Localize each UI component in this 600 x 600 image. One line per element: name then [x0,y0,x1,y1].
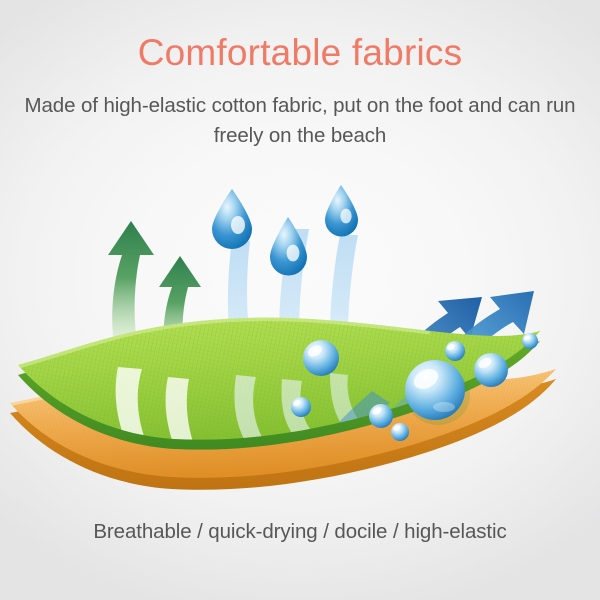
water-bead [303,340,339,376]
feature-caption: Breathable / quick-drying / docile / hig… [0,518,600,546]
water-bead [445,341,465,361]
water-bead [522,333,538,349]
water-bead [474,353,508,387]
water-bead [291,397,311,417]
fabric-illustration [0,155,600,495]
page-title: Comfortable fabrics [0,30,600,75]
water-bead [391,423,409,441]
page-subtitle: Made of high-elastic cotton fabric, put … [0,91,600,151]
droplet [270,217,307,276]
water-bead [369,404,393,428]
droplet [212,189,252,249]
infographic-page: Comfortable fabrics Made of high-elastic… [0,0,600,600]
droplet [325,185,358,237]
